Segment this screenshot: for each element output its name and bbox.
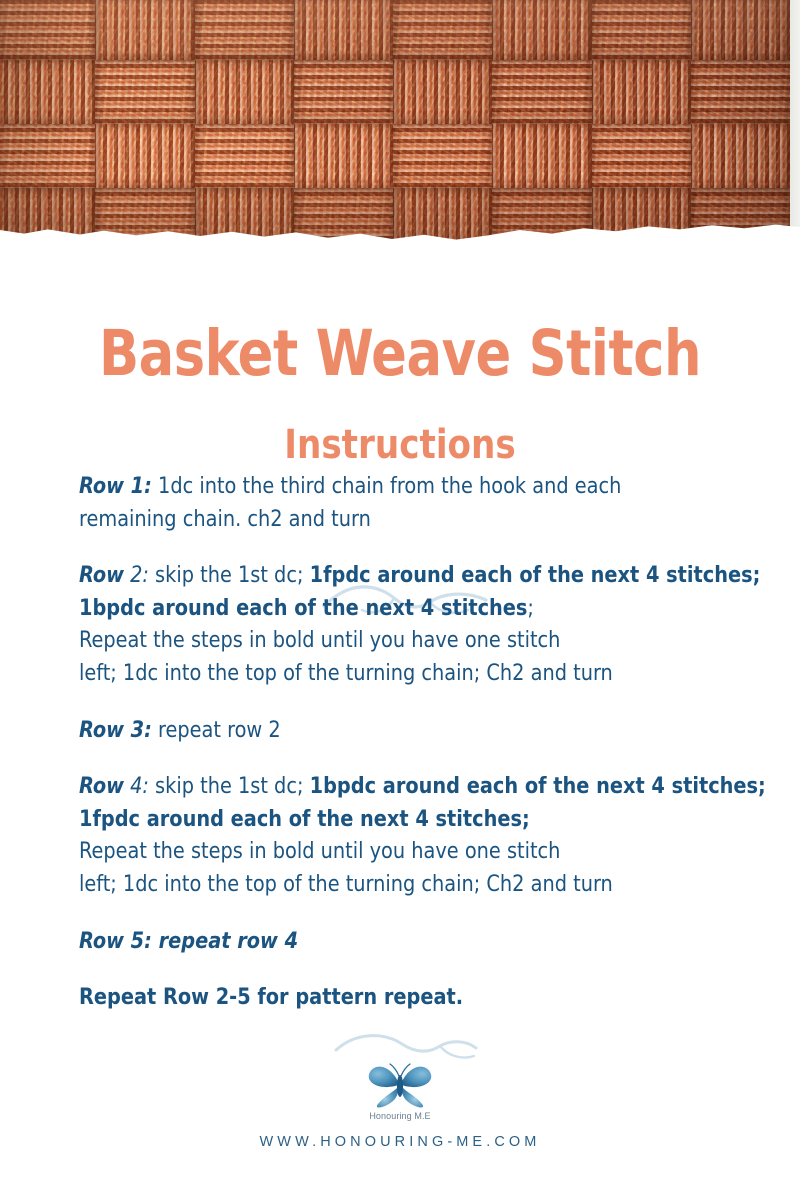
instruction-line: left; 1dc into the top of the turning ch… [79, 868, 721, 901]
instruction-block-row-5: Row 5: repeat row 4 [79, 925, 721, 958]
instruction-text: 2: [124, 562, 149, 588]
instruction-text: skip the 1st dc; [149, 773, 310, 799]
instruction-line: Row 2: skip the 1st dc; 1fpdc around eac… [79, 559, 721, 592]
instruction-text: 1bpdc around each of the next 4 stitches… [310, 773, 766, 799]
instruction-text: 1dc into the third chain from the hook a… [152, 473, 621, 499]
instruction-line: 1bpdc around each of the next 4 stitches… [79, 592, 721, 625]
instruction-line: Repeat Row 2-5 for pattern repeat. [79, 981, 721, 1014]
instruction-text: Row 1: [79, 473, 152, 499]
instruction-text: repeat row 2 [152, 717, 281, 743]
instruction-text: skip the 1st dc; [149, 562, 310, 588]
butterfly-icon [364, 1060, 436, 1110]
instruction-text: 4: [124, 773, 149, 799]
instruction-line: Repeat the steps in bold until you have … [79, 835, 721, 868]
instruction-text: 1fpdc around each of the next 4 stitches… [79, 806, 530, 832]
instruction-line: 1fpdc around each of the next 4 stitches… [79, 803, 721, 836]
instruction-block-row-3: Row 3: repeat row 2 [79, 714, 721, 747]
instruction-block-row-2: Row 2: skip the 1st dc; 1fpdc around eac… [79, 559, 721, 689]
instruction-text: Row 3: [79, 717, 152, 743]
instruction-text: Row [79, 562, 124, 588]
instruction-text: Row [79, 773, 124, 799]
instruction-line: Row 1: 1dc into the third chain from the… [79, 470, 721, 503]
page-title: Basket Weave Stitch [28, 322, 772, 385]
instruction-text: Repeat the steps in bold until you have … [79, 627, 560, 653]
instruction-line: remaining chain. ch2 and turn [79, 503, 721, 536]
instruction-block-row-4: Row 4: skip the 1st dc; 1bpdc around eac… [79, 770, 721, 900]
instruction-text: left; 1dc into the top of the turning ch… [79, 660, 613, 686]
instruction-line: Row 3: repeat row 2 [79, 714, 721, 747]
instruction-text: left; 1dc into the top of the turning ch… [79, 871, 613, 897]
instruction-text: 1fpdc around each of the next 4 stitches… [310, 562, 761, 588]
site-url[interactable]: WWW.HONOURING-ME.COM [0, 1134, 800, 1150]
photo-vignette [0, 0, 790, 248]
instruction-text: Row 5: repeat row 4 [79, 928, 298, 954]
footer: Honouring M.E WWW.HONOURING-ME.COM [0, 1060, 800, 1150]
logo-wordmark: Honouring M.E [0, 1111, 800, 1121]
instruction-line: left; 1dc into the top of the turning ch… [79, 657, 721, 690]
page-subtitle: Instructions [20, 425, 780, 465]
crochet-swatch-photo [0, 0, 800, 248]
instruction-block-pattern-repeat: Repeat Row 2-5 for pattern repeat. [79, 981, 721, 1014]
instruction-line: Repeat the steps in bold until you have … [79, 624, 721, 657]
instruction-text: Repeat the steps in bold until you have … [79, 838, 560, 864]
instruction-line: Row 5: repeat row 4 [79, 925, 721, 958]
instruction-text: ; [527, 595, 534, 621]
instruction-text: Repeat Row 2-5 for pattern repeat. [79, 984, 463, 1010]
basket-weave-texture [0, 0, 790, 248]
instruction-line: Row 4: skip the 1st dc; 1bpdc around eac… [79, 770, 721, 803]
instruction-text: 1bpdc around each of the next 4 stitches [79, 595, 527, 621]
instruction-block-row-1: Row 1: 1dc into the third chain from the… [79, 470, 721, 535]
instructions-body: Row 1: 1dc into the third chain from the… [79, 470, 721, 1014]
instruction-text: remaining chain. ch2 and turn [79, 506, 371, 532]
